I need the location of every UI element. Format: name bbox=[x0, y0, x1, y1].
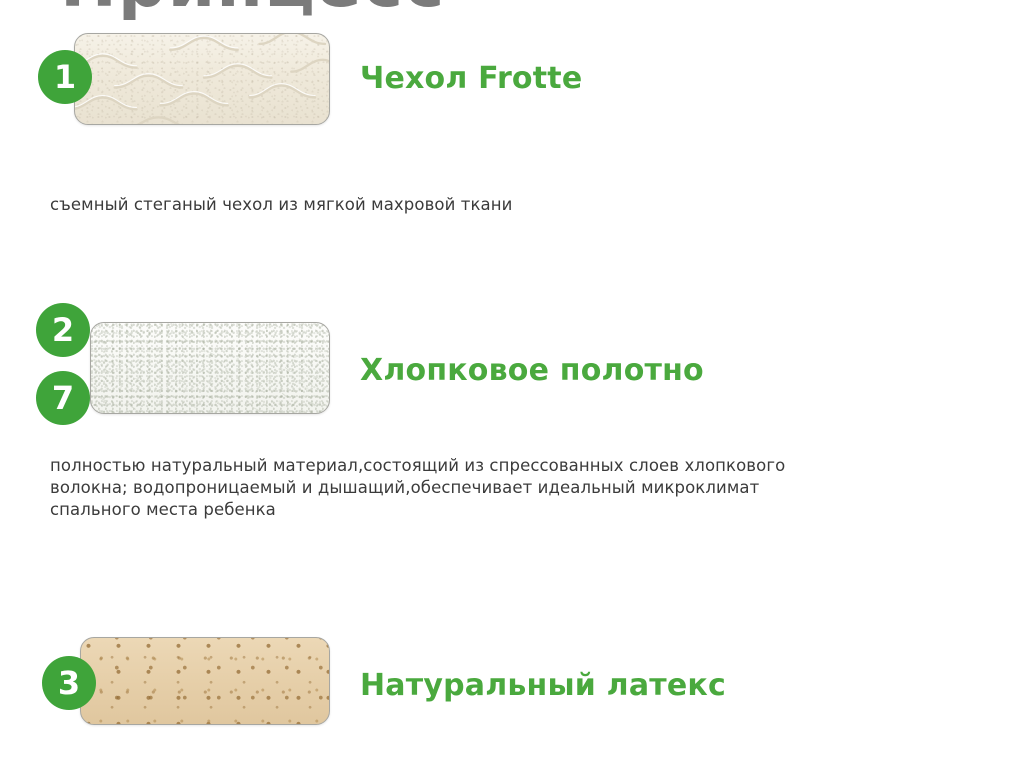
description-line: спального места ребенка bbox=[50, 499, 1010, 521]
cotton-felt-swatch bbox=[90, 322, 330, 414]
layer-description-2: полностью натуральный материал,состоящий… bbox=[50, 455, 1010, 521]
layer-badge-1[interactable]: 1 bbox=[38, 50, 92, 104]
latex-perforation-texture-secondary bbox=[81, 638, 329, 724]
layer-heading-1: Чехол Frotte bbox=[360, 61, 582, 96]
layer-heading-2: Хлопковое полотно bbox=[360, 353, 704, 388]
layer-heading-3: Натуральный латекс bbox=[360, 668, 726, 703]
layer-badge-2[interactable]: 2 bbox=[36, 303, 90, 357]
layer-description-1: съемный стеганый чехол из мягкой махрово… bbox=[50, 194, 990, 216]
description-line: полностью натуральный материал,состоящий… bbox=[50, 455, 1010, 477]
natural-latex-swatch bbox=[80, 637, 330, 725]
fabric-grain-texture bbox=[75, 34, 329, 124]
page-title-cutoff: Принцесс bbox=[60, 0, 445, 23]
frotte-quilted-fabric-swatch bbox=[74, 33, 330, 125]
layer-badge-7[interactable]: 7 bbox=[36, 371, 90, 425]
layer-badge-3[interactable]: 3 bbox=[42, 656, 96, 710]
infographic-page: Принцесс bbox=[0, 0, 1024, 768]
description-line: волокна; водопроницаемый и дышащий,обесп… bbox=[50, 477, 1010, 499]
cotton-fiber-texture bbox=[91, 323, 329, 413]
description-line: съемный стеганый чехол из мягкой махрово… bbox=[50, 194, 990, 216]
